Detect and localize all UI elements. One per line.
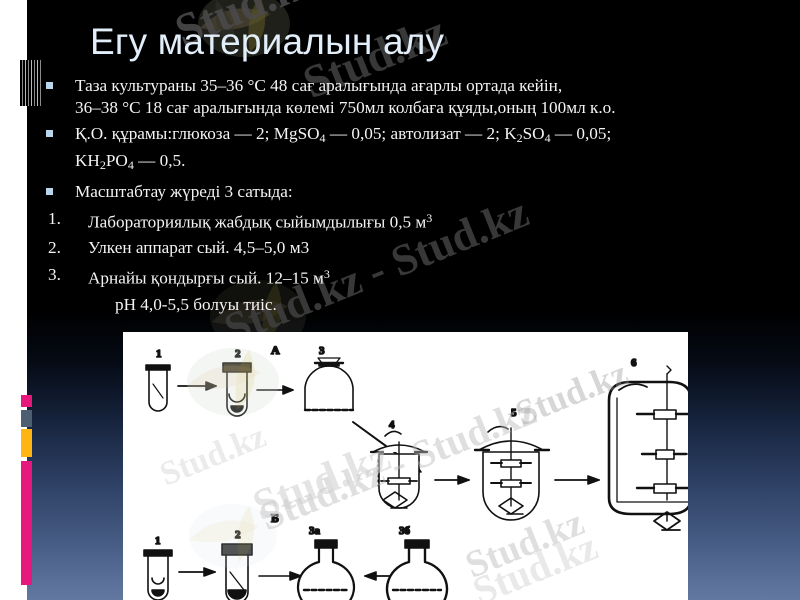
- numbered-item-large-apparatus: 2. Улкен аппарат сый. 4,5–5,0 м3: [40, 237, 785, 259]
- square-bullet-icon: [46, 130, 53, 137]
- bullet-item-culture: Таза культураны 35–36 °C 48 сағ аралығын…: [40, 75, 785, 118]
- dash: —: [134, 151, 160, 170]
- dash: —: [551, 124, 577, 143]
- list-number: 3.: [48, 264, 76, 286]
- decorative-bar-amber: [21, 429, 32, 457]
- diagram-label-a5: 5: [511, 407, 517, 419]
- decorative-stripe-block: [20, 60, 42, 106]
- diagram-label-a6: 6: [631, 357, 637, 369]
- chemical-glucose-name: глюкоза: [172, 124, 230, 143]
- chemical-mgso4-formula: MgSO4: [274, 124, 326, 143]
- separator: ;: [381, 124, 390, 143]
- bullet-item-scaling: Масштабтау жүреді 3 сатыда:: [40, 181, 785, 203]
- numbered-item-lab: 1. Лабораториялық жабдық сыйымдылығы 0,5…: [40, 208, 785, 233]
- period: .: [181, 151, 185, 170]
- bullet-line-composition: Қ.О. құрамы:глюкоза — 2; MgSO4 — 0,05; а…: [75, 123, 785, 150]
- list-number: 1.: [48, 208, 76, 230]
- diagram-label-a2: 2: [235, 348, 241, 360]
- chemical-kh2po4-value: 0,5: [160, 151, 181, 170]
- chemical-autolysate-value: 2: [487, 124, 496, 143]
- list-number: 2.: [48, 237, 76, 259]
- diagram-label-a1: 1: [156, 348, 162, 360]
- bullet-item-composition: Қ.О. құрамы:глюкоза — 2; MgSO4 — 0,05; а…: [40, 123, 785, 176]
- superscript-cube: 3: [324, 267, 330, 281]
- numbered-item-special-unit: 3. Арнайы қондырғы сый. 12–15 м3: [40, 264, 785, 289]
- diagram-label-a4: 4: [389, 419, 395, 431]
- diagram-label-b2: 2: [235, 529, 241, 541]
- decorative-bar-magenta-long: [21, 461, 32, 585]
- process-diagram-image: А 1 2 3: [123, 332, 688, 600]
- diagram-label-b3b: 3б: [399, 525, 411, 537]
- chemical-mgso4-value: 0,05: [351, 124, 381, 143]
- diagram-label-b3a: 3а: [309, 525, 321, 537]
- bullet-line: 36–38 °C 18 сағ аралығында көлемі 750мл …: [75, 97, 785, 119]
- square-bullet-icon: [46, 82, 53, 89]
- slide-canvas: Stud.kz Stud.kz Stud.kz - Stud.kz Егу ма…: [0, 0, 800, 600]
- chemical-k2so4-value: 0,05: [576, 124, 606, 143]
- superscript-cube: 3: [426, 211, 432, 225]
- ph-note: pH 4,0-5,5 болуы тиіс.: [40, 294, 785, 316]
- numbered-text: Лабораториялық жабдық сыйымдылығы 0,5 м: [88, 212, 426, 231]
- separator: ;: [606, 124, 611, 143]
- decorative-bar-slate: [21, 410, 32, 427]
- bullet-line: Таза культураны 35–36 °C 48 сағ аралығын…: [75, 75, 785, 97]
- chemical-kh2po4-formula: KH2PO4: [75, 151, 134, 170]
- diagram-section-label-a: А: [271, 343, 280, 357]
- diagram-label-b1: 1: [155, 535, 161, 547]
- numbered-text: Арнайы қондырғы сый. 12–15 м: [88, 268, 324, 287]
- slide-body: Таза культураны 35–36 °C 48 сағ аралығын…: [40, 75, 785, 319]
- numbered-text: Улкен аппарат сый. 4,5–5,0 м3: [88, 238, 309, 257]
- chemical-glucose-value: 2: [256, 124, 265, 143]
- bullet-line: Масштабтау жүреді 3 сатыда:: [75, 181, 785, 203]
- page-title: Егу материалын алу: [90, 20, 750, 64]
- diagram-svg: А 1 2 3: [123, 332, 688, 600]
- chemical-k2so4-formula: K2SO4: [504, 124, 550, 143]
- dash: —: [326, 124, 352, 143]
- decorative-bar-magenta-top: [21, 395, 32, 407]
- bullet-line-composition-cont: KH2PO4 — 0,5.: [75, 150, 785, 177]
- separator: ;: [265, 124, 274, 143]
- diagram-label-a3: 3: [319, 345, 325, 357]
- chemical-autolysate-name: автолизат: [391, 124, 461, 143]
- square-bullet-icon: [46, 188, 53, 195]
- dash: —: [230, 124, 256, 143]
- diagram-section-label-b: Б: [271, 511, 279, 525]
- composition-prefix: Қ.О. құрамы:: [75, 124, 172, 143]
- dash: —: [461, 124, 487, 143]
- separator: ;: [495, 124, 504, 143]
